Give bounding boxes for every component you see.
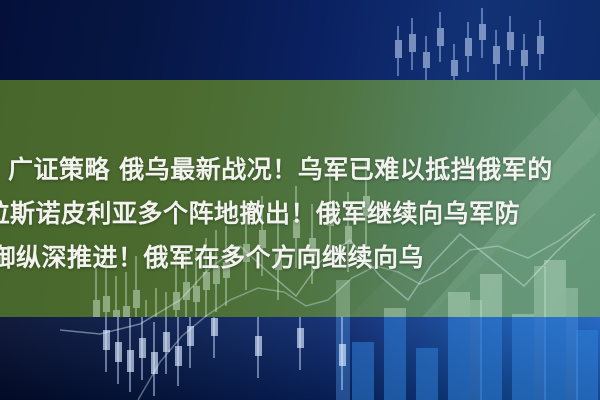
bottom-navy-band: [0, 317, 600, 400]
headline-line-2: 州的克拉斯诺皮利亚多个阵地撤出！俄军继续向乌军防: [0, 192, 600, 236]
headline-text: 广证策略 俄乌最新战况！乌军已难以抵挡俄军的 州的克拉斯诺皮利亚多个阵地撤出！俄…: [0, 148, 600, 280]
top-navy-band: [0, 0, 600, 80]
headline-line-3: 军继续向乌军防御纵深推进！俄军在多个方向继续向乌: [0, 236, 600, 280]
news-banner: 广证策略 俄乌最新战况！乌军已难以抵挡俄军的 州的克拉斯诺皮利亚多个阵地撤出！俄…: [0, 0, 600, 400]
headline-line-1: 广证策略 俄乌最新战况！乌军已难以抵挡俄军的: [0, 148, 600, 192]
